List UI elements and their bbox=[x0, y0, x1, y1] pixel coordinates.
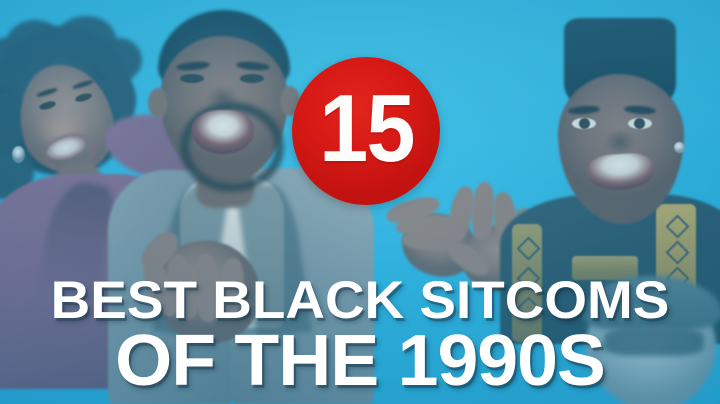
woman-hair-curl bbox=[6, 20, 64, 68]
man-ear bbox=[148, 88, 168, 118]
right-man-pupil bbox=[579, 118, 590, 129]
man-eye bbox=[180, 74, 204, 83]
right-man-earring bbox=[674, 142, 685, 153]
right-man-nose bbox=[604, 126, 636, 152]
man-eye bbox=[240, 74, 264, 83]
count-badge: 15 bbox=[292, 57, 440, 205]
right-man-pupil bbox=[634, 118, 645, 129]
headline-block: BEST BLACK SITCOMS OF THE 1990S bbox=[0, 277, 720, 394]
woman-earring bbox=[12, 146, 25, 163]
count-badge-number: 15 bbox=[319, 81, 414, 177]
man-open-mouth bbox=[192, 110, 254, 154]
headline-line-1: BEST BLACK SITCOMS bbox=[0, 277, 720, 326]
headline-line-2: OF THE 1990S bbox=[0, 328, 720, 394]
thumbnail-image: 15 BEST BLACK SITCOMS OF THE 1990S bbox=[0, 0, 720, 404]
